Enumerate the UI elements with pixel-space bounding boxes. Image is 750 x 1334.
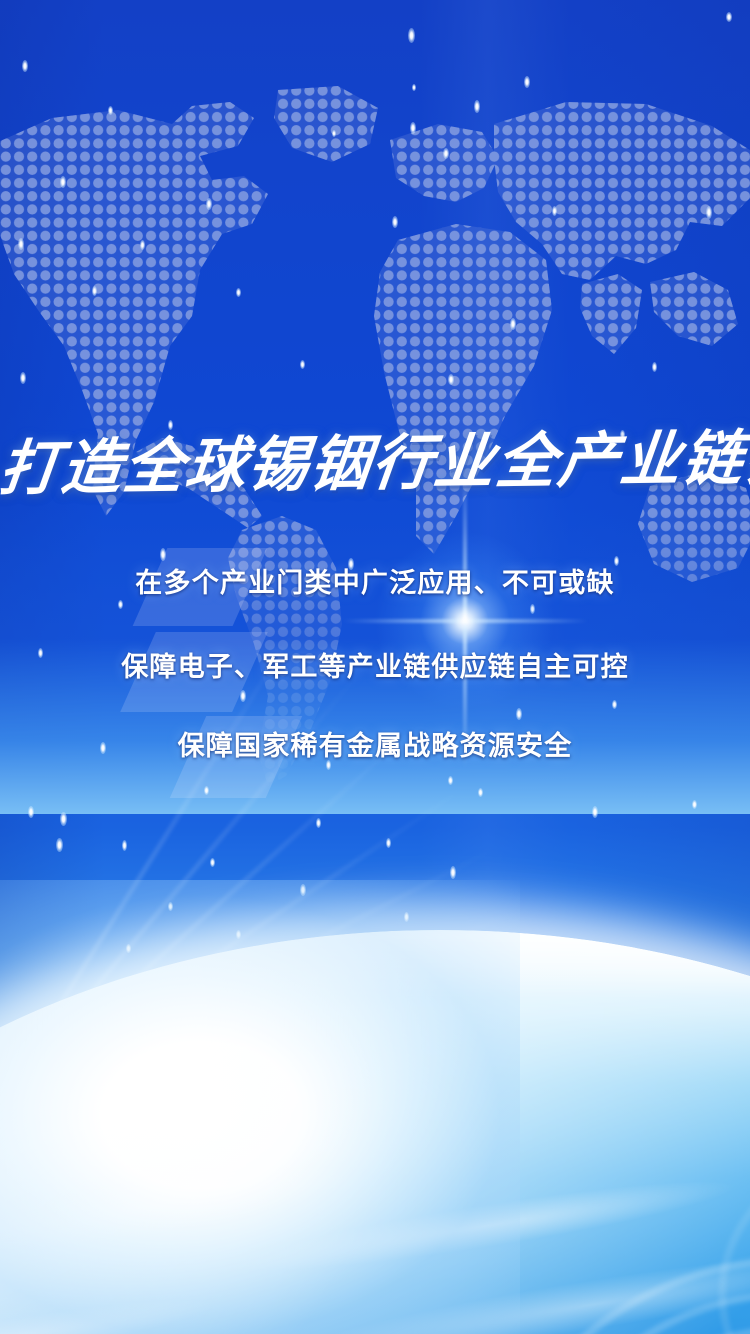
poster-subtitle-2: 保障电子、军工等产业链供应链自主可控 bbox=[0, 645, 750, 684]
earth-atmosphere-glow bbox=[0, 930, 750, 998]
poster-subtitle-3: 保障国家稀有金属战略资源安全 bbox=[0, 724, 750, 763]
poster-headline: 打造全球锡铟行业全产业链链主 bbox=[0, 413, 750, 515]
poster-subtitle-1: 在多个产业门类中广泛应用、不可或缺 bbox=[0, 561, 750, 600]
earth-horizon bbox=[0, 930, 750, 1334]
poster-root: 打造全球锡铟行业全产业链链主 在多个产业门类中广泛应用、不可或缺 保障电子、军工… bbox=[0, 0, 750, 1334]
